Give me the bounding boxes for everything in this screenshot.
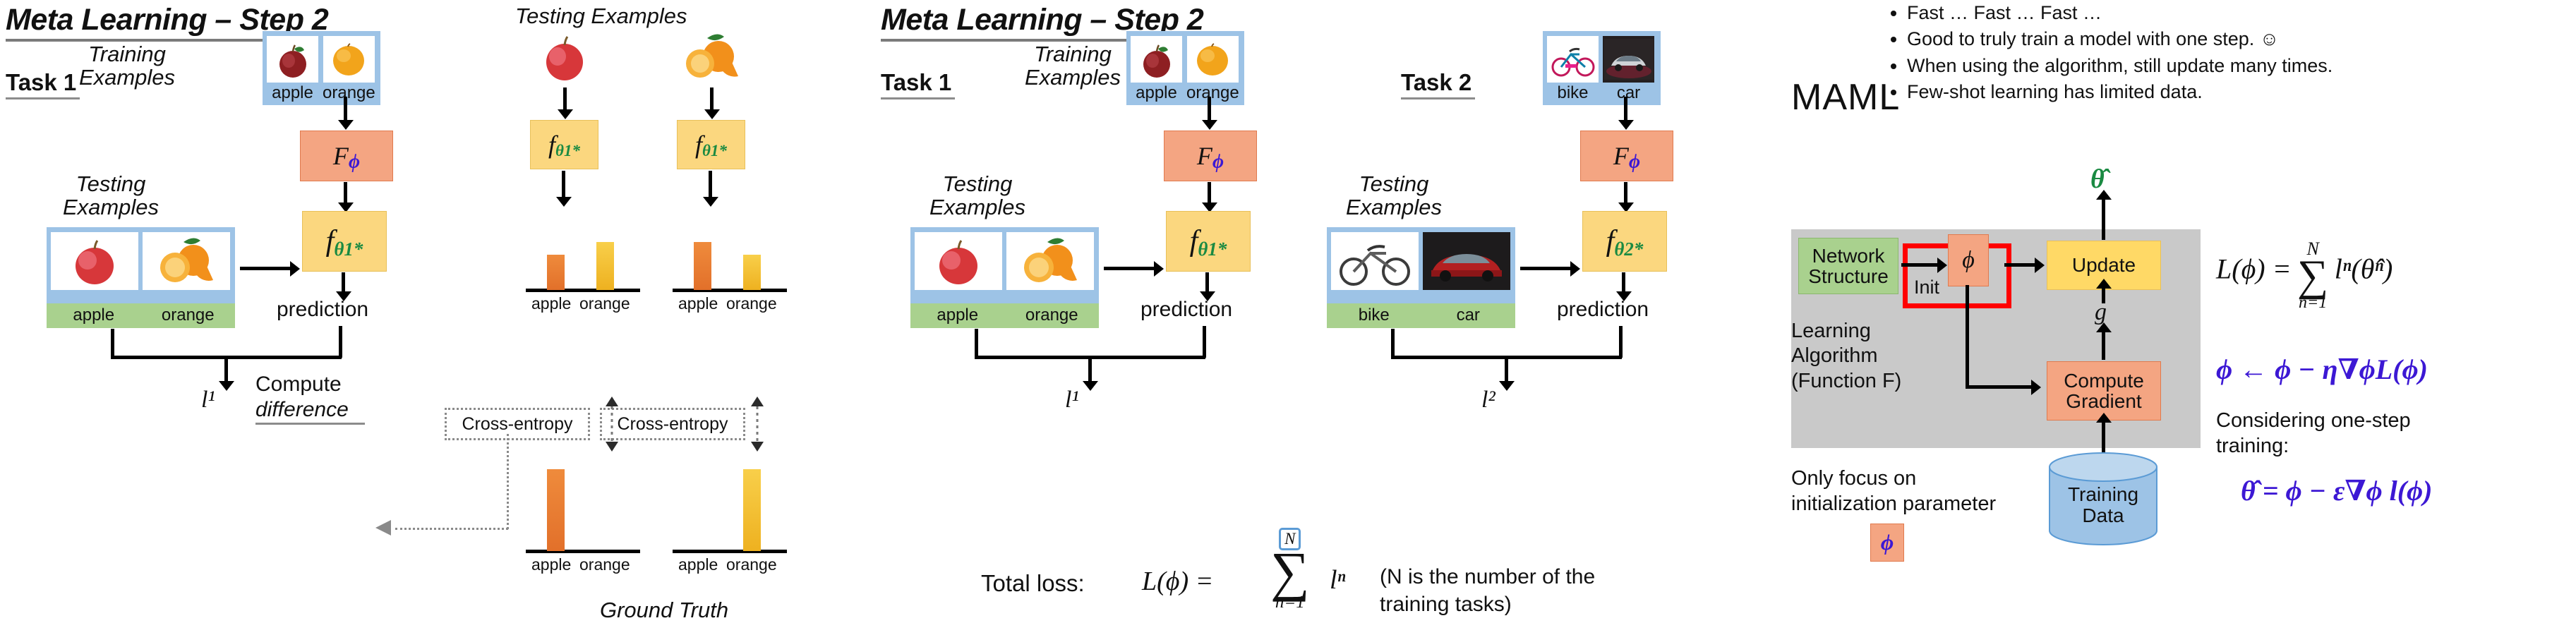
box-f-letter: f [548, 130, 555, 159]
only-focus-line1: Only focus on [1791, 466, 1996, 491]
only-focus-line2: initialization parameter [1791, 491, 1996, 516]
maml-bullet: Good to truly train a model with one ste… [1907, 26, 2333, 52]
apple-photo-icon [51, 232, 138, 290]
considering-line1: Considering one-step [2216, 408, 2411, 433]
example-cell: orange [323, 36, 375, 103]
note-line-2: training tasks) [1380, 591, 1595, 618]
ground-truth-chart-right: apple orange [673, 452, 787, 571]
example-label: apple [272, 83, 313, 103]
slide2-training-caption: Training Examples [1009, 42, 1136, 90]
training-data-line2: Data [2047, 505, 2160, 526]
maml-loss-equation: L(ϕ) = N ∑ n=1 lⁿ(θ̂ⁿ) [2216, 240, 2393, 311]
slide1-task-underline [6, 97, 80, 99]
training-data-label: Training Data [2047, 484, 2160, 526]
mid-testing-examples-caption: Testing Examples [515, 4, 687, 28]
init-label: Init [1914, 277, 1939, 298]
arrow-network-to-phi [1901, 263, 1938, 267]
arrow-mid-orange-to-f [710, 87, 714, 110]
box-F-letter: F [333, 141, 349, 171]
orange-photo-icon [323, 36, 375, 83]
arrow-to-loss [224, 358, 228, 382]
arrow-to-loss2 [1505, 358, 1508, 382]
chart-tick-orange: orange [579, 294, 630, 313]
chart-axis [673, 289, 787, 292]
learning-algorithm-caption: Learning Algorithm (Function F) [1791, 319, 1901, 394]
maml-bullet: Few-shot learning has limited data. [1907, 79, 2333, 105]
slide2-task2-testing-examples: . . [1327, 227, 1515, 313]
compute-label: Compute [255, 373, 365, 397]
example-cell: . [143, 232, 230, 310]
slide2-task1-testing-examples: . . [910, 227, 1099, 313]
chart-tick-apple: apple [678, 555, 718, 574]
orange-slices-photo-icon [1006, 232, 1094, 290]
learning-algorithm-line2: Algorithm [1791, 344, 1901, 368]
slide2-task1-testing-caption: Testing Examples [910, 172, 1045, 219]
mid-box-f-left: fθ1* [530, 120, 598, 169]
cross-entropy-arrow-right [750, 397, 765, 455]
training-data-line1: Training [2047, 484, 2160, 505]
bar-apple [694, 242, 711, 290]
loss-sum-term: lⁿ(θ̂ⁿ) [2335, 253, 2393, 285]
slide1-testing-labels: apple orange [47, 303, 235, 328]
join-line-right [339, 326, 342, 358]
slide2-task1-prediction: prediction [1140, 298, 1232, 322]
slide2-task2-label-group: Task 2 [1401, 69, 1475, 99]
slide1-training-caption: Training Examples [64, 42, 191, 90]
prediction-chart-left: apple orange [526, 212, 640, 310]
join-line-left [1391, 329, 1395, 358]
arrow-phi-to-update [2004, 263, 2035, 267]
difference-label: difference [255, 398, 365, 422]
box-f-letter: f [326, 224, 335, 258]
sigma-icon: ∑ [2297, 258, 2328, 294]
arrow-phi-to-compute-gradient [1966, 385, 2032, 389]
mid-box-f-right: fθ1* [677, 120, 745, 169]
phi-bottom-label: ϕ [1881, 531, 1894, 555]
slide2-task2-testing-labels: bike car [1327, 303, 1515, 328]
slide2-task1-testing-labels: apple orange [910, 303, 1099, 328]
note-line-1: (N is the number of the [1380, 563, 1595, 591]
example-label: orange [323, 83, 375, 103]
example-cell: . [1423, 232, 1510, 310]
join-line-right [1619, 326, 1623, 358]
slide1-compute-difference: Compute difference [255, 373, 365, 425]
arrow-mid-apple-to-f [563, 87, 567, 110]
slide1-loss-symbol: l¹ [201, 387, 215, 413]
slide1-box-F: Fϕ [300, 131, 393, 181]
bicycle-photo-icon [1331, 232, 1419, 290]
arrow-task1-test-to-f [1104, 267, 1155, 270]
cross-entropy-arrow-left [604, 397, 620, 455]
maml-one-step-equation: θ̂ = ϕ − ε∇ϕ l(ϕ) [2241, 474, 2433, 507]
slide1-prediction-label: prediction [277, 298, 368, 322]
example-cell: apple [267, 36, 318, 103]
loss-lhs: L(ϕ) = [2216, 253, 2292, 285]
maml-bullet: Fast … Fast … Fast … [1907, 0, 2333, 26]
maml-update-rule: ϕ ← ϕ − η∇ϕL(ϕ) [2216, 353, 2428, 386]
example-cell: . [1331, 232, 1419, 310]
arrow-to-loss1 [1088, 358, 1092, 382]
cross-entropy-arrowhead-left [375, 519, 394, 540]
apple-photo-icon [267, 36, 318, 83]
sum-lower-limit: n=1 [1270, 593, 1310, 612]
box-F-letter: F [1197, 141, 1212, 171]
compute-gradient-line2: Gradient [2066, 391, 2141, 411]
only-focus-caption: Only focus on initialization parameter [1791, 466, 1996, 517]
arrow-mid-f-to-chart-left [562, 171, 565, 198]
example-label: car [1617, 83, 1640, 103]
arrow-g-top-seg [2102, 288, 2105, 303]
arrow-update-to-theta-hat [2102, 199, 2105, 240]
example-label: apple [1136, 83, 1177, 103]
box-f-subscript: θ2* [1614, 238, 1643, 260]
total-loss-note: (N is the number of the training tasks) [1380, 563, 1595, 618]
box-f-letter: f [1190, 224, 1198, 258]
slide1-box-f: fθ1* [302, 211, 387, 272]
arrow-task1-F-to-f [1208, 182, 1211, 203]
chart-axis [673, 550, 787, 553]
arrow-task1-f-to-prediction [1205, 272, 1209, 292]
example-label: orange [141, 303, 236, 328]
chart-tick-orange: orange [726, 294, 777, 313]
bar-orange [743, 469, 761, 551]
cross-entropy-box-right: Cross-entropy [600, 408, 745, 440]
slide2-task2-label: Task 2 [1401, 69, 1475, 96]
chart-axis [526, 550, 640, 553]
box-f-subscript: θ1* [702, 142, 727, 160]
example-cell: car [1603, 36, 1654, 103]
phi-down-line [1966, 285, 1969, 387]
compute-gradient-box: Compute Gradient [2047, 361, 2161, 421]
considering-line2: training: [2216, 433, 2411, 459]
box-f-subscript: θ1* [334, 238, 363, 260]
network-structure-line2: Structure [1808, 266, 1889, 286]
slide2-task2-prediction: prediction [1557, 298, 1649, 322]
example-cell: . [915, 232, 1002, 310]
arrow-f-to-prediction [342, 272, 345, 292]
maml-bullet-list: Fast … Fast … Fast … Good to truly train… [1891, 0, 2333, 105]
chart-tick-orange: orange [579, 555, 630, 574]
apple-photo-icon [1131, 36, 1182, 83]
difference-underline [255, 423, 365, 425]
slide2-task1-label: Task 1 [881, 69, 955, 96]
arrow-F-to-f [344, 182, 347, 203]
ground-truth-caption: Ground Truth [600, 598, 728, 622]
bar-orange [596, 242, 614, 290]
slide2-task1-underline [881, 97, 955, 99]
chart-tick-apple: apple [531, 294, 571, 313]
orange-photo-icon [1187, 36, 1239, 83]
slide2-task1-label-group: Task 1 [881, 69, 955, 99]
slide2-task1-training-examples: apple orange [1126, 31, 1244, 105]
slide2-task2-box-f: fθ2* [1582, 211, 1667, 272]
cross-entropy-dotted-down [507, 434, 509, 529]
slide2-task2-box-F: Fϕ [1580, 131, 1673, 181]
mid-orange-slices-photo-icon [678, 30, 748, 85]
bar-apple [547, 255, 565, 290]
total-loss-sum: N ∑ n=1 [1270, 528, 1310, 612]
network-structure-box: Network Structure [1798, 238, 1898, 294]
arrow-test-to-f [240, 267, 291, 270]
learning-algorithm-line1: Learning [1791, 319, 1901, 344]
box-F-subscript: ϕ [349, 151, 360, 174]
cross-entropy-box-left: Cross-entropy [445, 408, 590, 440]
slide1-training-examples: apple orange [263, 31, 380, 105]
slide2-loss2: l² [1481, 387, 1495, 413]
maml-title: MAML [1791, 76, 1900, 119]
training-data-cylinder: Training Data [2047, 452, 2160, 547]
maml-bullet: When using the algorithm, still update m… [1907, 53, 2333, 79]
bar-apple [547, 469, 565, 551]
slide2-task2-underline [1401, 97, 1475, 99]
example-label: car [1421, 303, 1516, 328]
orange-slices-photo-icon [143, 232, 230, 290]
arrow-task2-F-to-f [1624, 182, 1627, 203]
slide2-task1-box-f: fθ1* [1166, 211, 1251, 272]
example-label: bike [1327, 303, 1421, 328]
arrow-task2-train-to-F [1624, 97, 1627, 121]
loss-sum: N ∑ n=1 [2297, 240, 2328, 311]
chart-tick-orange: orange [726, 555, 777, 574]
arrow-task2-test-to-f [1520, 267, 1571, 270]
bike-photo-icon [1547, 36, 1599, 83]
arrow-mid-f-to-chart-right [709, 171, 712, 198]
sigma-icon: ∑ [1270, 552, 1310, 591]
learning-algorithm-line3: (Function F) [1791, 369, 1901, 394]
phi-box: ϕ [1948, 234, 1989, 286]
box-f-letter: f [1606, 224, 1615, 258]
example-cell: orange [1186, 36, 1239, 103]
box-f-letter: f [695, 130, 702, 159]
sum-term: lⁿ [1330, 564, 1346, 595]
example-label: bike [1557, 83, 1588, 103]
box-f-subscript: θ1* [1198, 238, 1227, 260]
chart-axis [526, 289, 640, 292]
phi-label: ϕ [1962, 248, 1975, 273]
slide1-testing-examples: . . [47, 227, 235, 313]
compute-gradient-line1: Compute [2064, 370, 2144, 391]
update-label: Update [2072, 255, 2136, 275]
box-F-subscript: ϕ [1629, 151, 1640, 174]
car-photo-icon [1603, 36, 1654, 83]
example-cell: . [51, 232, 138, 310]
box-f-subscript: θ1* [555, 142, 580, 160]
slide2-task2-testing-caption: Testing Examples [1327, 172, 1461, 219]
example-label: orange [1005, 303, 1100, 328]
sum-lower-limit: n=1 [2297, 294, 2328, 311]
cross-entropy-dotted-left [395, 528, 508, 530]
prediction-chart-right: apple orange [673, 212, 787, 310]
example-cell: bike [1547, 36, 1599, 103]
box-F-subscript: ϕ [1212, 151, 1224, 174]
slide2-task2-training-examples: bike car [1543, 31, 1661, 105]
example-label: apple [910, 303, 1005, 328]
theta-hat-label: θ̂ [2090, 164, 2105, 195]
join-line-right [1203, 326, 1206, 358]
bar-orange [743, 255, 761, 290]
apple-photo-icon [915, 232, 1002, 290]
chart-tick-apple: apple [678, 294, 718, 313]
join-line-left [975, 329, 978, 358]
network-structure-line1: Network [1812, 246, 1885, 266]
example-cell: . [1006, 232, 1094, 310]
mid-apple-photo-icon [533, 30, 596, 85]
slide1-testing-caption: Testing Examples [44, 172, 178, 219]
example-label: apple [47, 303, 141, 328]
chart-tick-apple: apple [531, 555, 571, 574]
red-car-photo-icon [1423, 232, 1510, 290]
arrow-task2-f-to-prediction [1622, 272, 1625, 292]
box-F-letter: F [1613, 141, 1629, 171]
phi-bottom-box: ϕ [1870, 524, 1904, 562]
example-cell: apple [1131, 36, 1182, 103]
ground-truth-chart-left: apple orange [526, 452, 640, 571]
join-line-left [111, 329, 114, 358]
slide2-task1-box-F: Fϕ [1164, 131, 1257, 181]
arrow-g-to-update [2102, 332, 2105, 360]
arrow-train-to-F [344, 97, 347, 121]
total-loss-label: Total loss: [981, 570, 1085, 597]
considering-caption: Considering one-step training: [2216, 408, 2411, 459]
slide2-loss1: l¹ [1065, 387, 1079, 413]
total-loss-lhs: L(ϕ) = [1142, 566, 1213, 597]
arrow-task1-train-to-F [1208, 97, 1211, 121]
example-label: orange [1186, 83, 1239, 103]
